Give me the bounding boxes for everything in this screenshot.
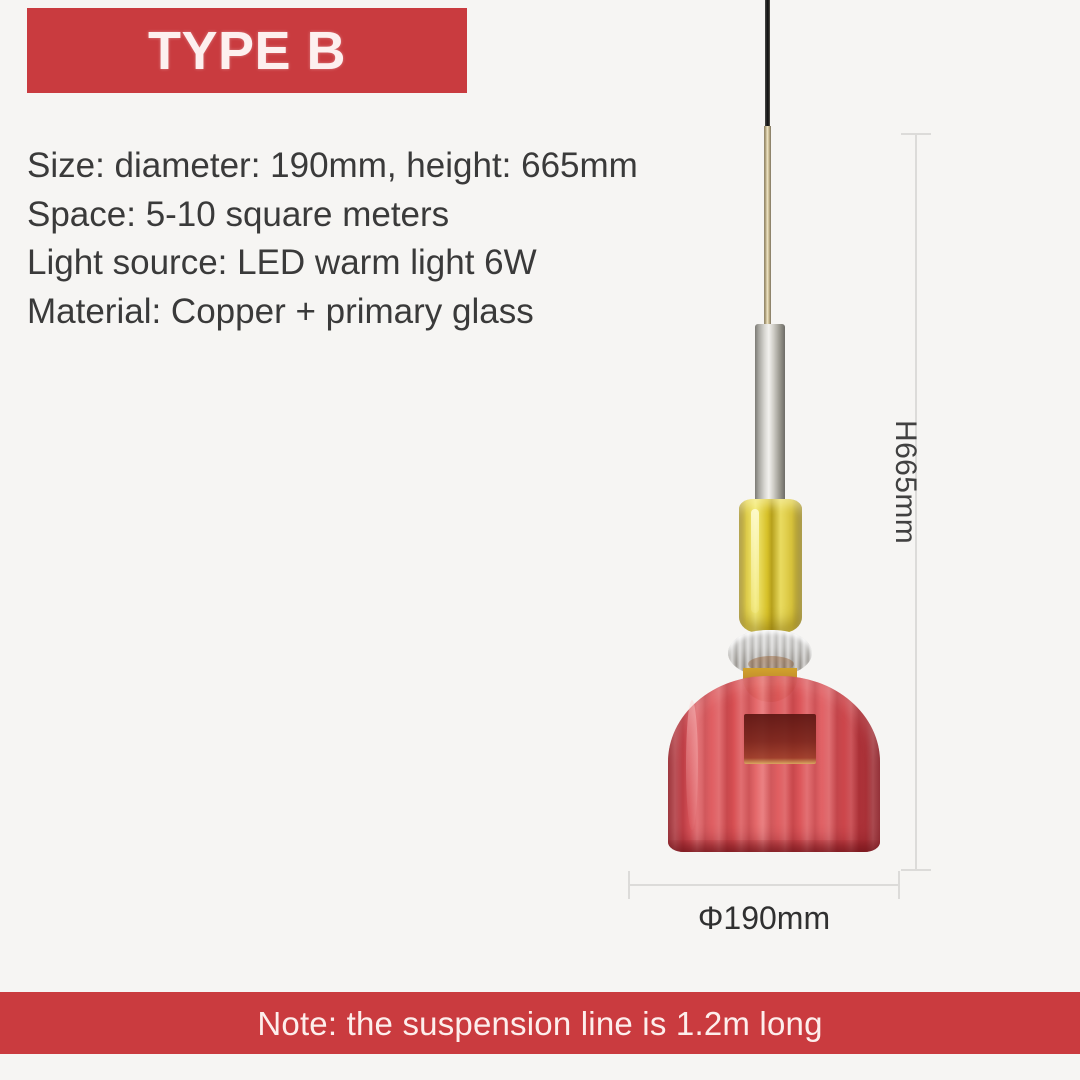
clear-ribbed-collar (728, 630, 812, 676)
type-banner-label: TYPE B (148, 24, 346, 78)
diameter-dimension-line (628, 884, 900, 886)
note-bar-label: Note: the suspension line is 1.2m long (257, 1007, 822, 1040)
specification-list: Size: diameter: 190mm, height: 665mm Spa… (27, 142, 787, 336)
diameter-dimension-label: Φ190mm (628, 900, 900, 937)
spec-line-material: Material: Copper + primary glass (27, 288, 787, 337)
red-glass-shade (668, 676, 880, 852)
spec-line-size: Size: diameter: 190mm, height: 665mm (27, 142, 787, 191)
suspension-cord-black (765, 0, 770, 128)
gold-socket-holder (743, 668, 797, 702)
spec-line-light-source: Light source: LED warm light 6W (27, 239, 787, 288)
chrome-rod (755, 324, 785, 508)
height-dimension-label: H665mm (888, 420, 922, 544)
height-dimension-tick-bottom (901, 869, 931, 871)
shade-highlight (686, 700, 698, 830)
diameter-dimension-tick-right (898, 871, 900, 899)
type-banner: TYPE B (27, 8, 467, 93)
note-bar: Note: the suspension line is 1.2m long (0, 992, 1080, 1054)
amber-glass-cylinder (739, 499, 802, 633)
shade-reflection (744, 714, 816, 764)
product-spec-page: TYPE B Size: diameter: 190mm, height: 66… (0, 0, 1080, 1080)
spec-line-space: Space: 5-10 square meters (27, 191, 787, 240)
